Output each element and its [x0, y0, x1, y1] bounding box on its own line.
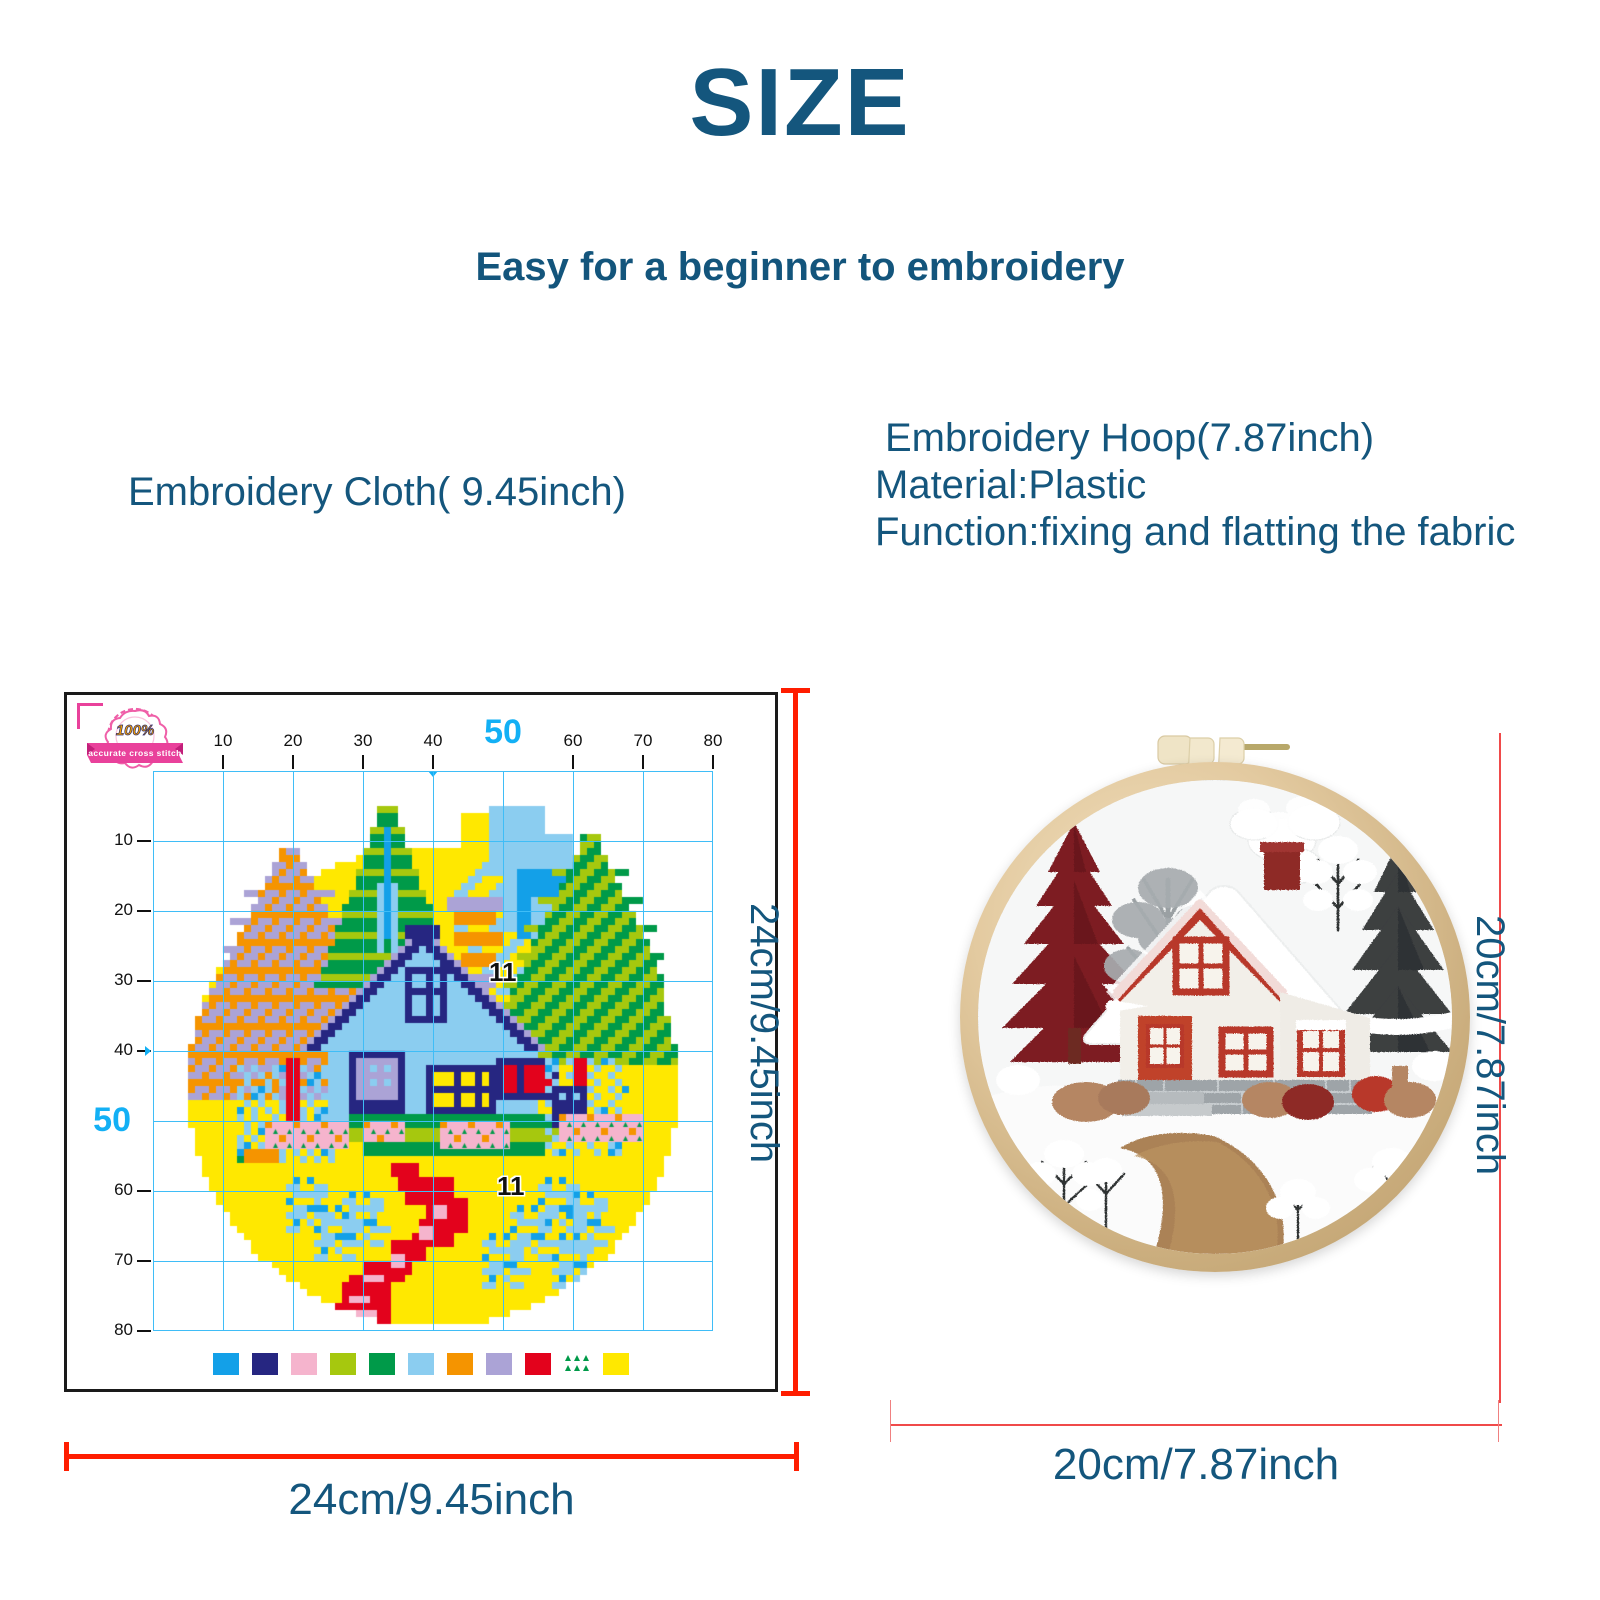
- ruler-y-50: 50: [75, 1101, 131, 1140]
- hoop-material-label: Material:Plastic: [875, 462, 1515, 509]
- cloth-height-cap-top: [781, 688, 810, 693]
- tick-x-20: [292, 755, 294, 769]
- svg-text:accurate cross stitch: accurate cross stitch: [88, 748, 181, 758]
- cloth-width-cap-right: [794, 1442, 799, 1471]
- cloth-height-label: 24cm/9.45inch: [741, 903, 786, 1303]
- ruler-y-30: 30: [89, 970, 133, 990]
- ruler-y-40: 40: [89, 1040, 133, 1060]
- hoop-fabric: [978, 780, 1452, 1254]
- ruler-x-50: 50: [483, 713, 523, 752]
- embroidery-cloth-chart: 100% accurate cross stitch 10 20 30 40 5…: [64, 692, 778, 1392]
- hoop-function-label: Function:fixing and flatting the fabric: [875, 509, 1515, 556]
- symbol-label-1: 11: [489, 957, 517, 988]
- embroidery-hoop-info: Embroidery Hoop(7.87inch) Material:Plast…: [875, 415, 1515, 557]
- cloth-width-cap-left: [64, 1442, 69, 1471]
- legend-swatch-yellow-green: [330, 1353, 356, 1375]
- legend-swatch-green-triangles: [564, 1353, 590, 1375]
- page-title: SIZE: [0, 55, 1600, 151]
- tick-x-80: [712, 755, 714, 769]
- ruler-x-40: 40: [413, 731, 453, 751]
- ruler-x-30: 30: [343, 731, 383, 751]
- legend-swatch-green: [369, 1353, 395, 1375]
- legend-swatch-yellow: [603, 1353, 629, 1375]
- tick-x-30: [362, 755, 364, 769]
- tick-y-60: [137, 1190, 151, 1192]
- tick-y-10: [137, 840, 151, 842]
- legend-swatch-blue: [213, 1353, 239, 1375]
- quality-badge-icon: 100% accurate cross stitch: [83, 705, 187, 771]
- hoop-width-cap-left: [890, 1400, 891, 1442]
- legend-swatch-lavender: [486, 1353, 512, 1375]
- stitch-grid: 11 11: [153, 771, 713, 1331]
- cloth-height-dimension-line: [793, 688, 798, 1396]
- ruler-x-80: 80: [693, 731, 733, 751]
- legend-swatch-orange: [447, 1353, 473, 1375]
- ruler-y-70: 70: [89, 1250, 133, 1270]
- cloth-width-dimension-line: [64, 1454, 799, 1459]
- cloth-width-label: 24cm/9.45inch: [64, 1475, 799, 1525]
- hoop-width-cap-right: [1498, 1400, 1499, 1442]
- hoop-ring: [960, 762, 1470, 1272]
- tick-y-20: [137, 910, 151, 912]
- ruler-x-10: 10: [203, 731, 243, 751]
- embroidered-winter-cottage-scene: [978, 780, 1452, 1254]
- embroidery-hoop-photo: [900, 700, 1520, 1400]
- hoop-height-label: 20cm/7.87inch: [1467, 915, 1512, 1315]
- cloth-height-cap-bottom: [781, 1391, 810, 1396]
- legend-swatch-pink: [291, 1353, 317, 1375]
- ruler-y-60: 60: [89, 1180, 133, 1200]
- tick-x-10: [222, 755, 224, 769]
- tick-y-30: [137, 980, 151, 982]
- legend-swatch-red: [525, 1353, 551, 1375]
- tick-y-70: [137, 1260, 151, 1262]
- ruler-y-80: 80: [89, 1320, 133, 1340]
- ruler-y-10: 10: [89, 830, 133, 850]
- legend-swatch-navy: [252, 1353, 278, 1375]
- hoop-width-label: 20cm/7.87inch: [890, 1440, 1502, 1490]
- svg-text:100%: 100%: [116, 722, 154, 739]
- ruler-y-20: 20: [89, 900, 133, 920]
- ruler-x-70: 70: [623, 731, 663, 751]
- hoop-width-dimension-line: [890, 1424, 1502, 1426]
- size-infographic-page: SIZE Easy for a beginner to embroidery E…: [0, 0, 1600, 1600]
- tick-x-60: [572, 755, 574, 769]
- tick-x-40: [432, 755, 434, 769]
- ruler-x-60: 60: [553, 731, 593, 751]
- page-subtitle: Easy for a beginner to embroidery: [0, 247, 1600, 287]
- cross-stitch-pattern: [153, 771, 713, 1331]
- color-legend: [67, 1353, 775, 1375]
- tick-x-70: [642, 755, 644, 769]
- tick-y-80: [137, 1330, 151, 1332]
- ruler-x-20: 20: [273, 731, 313, 751]
- symbol-label-2: 11: [497, 1171, 525, 1202]
- marker-y-40-arrow: [145, 1046, 151, 1056]
- embroidery-cloth-label: Embroidery Cloth( 9.45inch): [128, 470, 626, 515]
- hoop-size-label: Embroidery Hoop(7.87inch): [875, 415, 1515, 462]
- legend-swatch-light-blue: [408, 1353, 434, 1375]
